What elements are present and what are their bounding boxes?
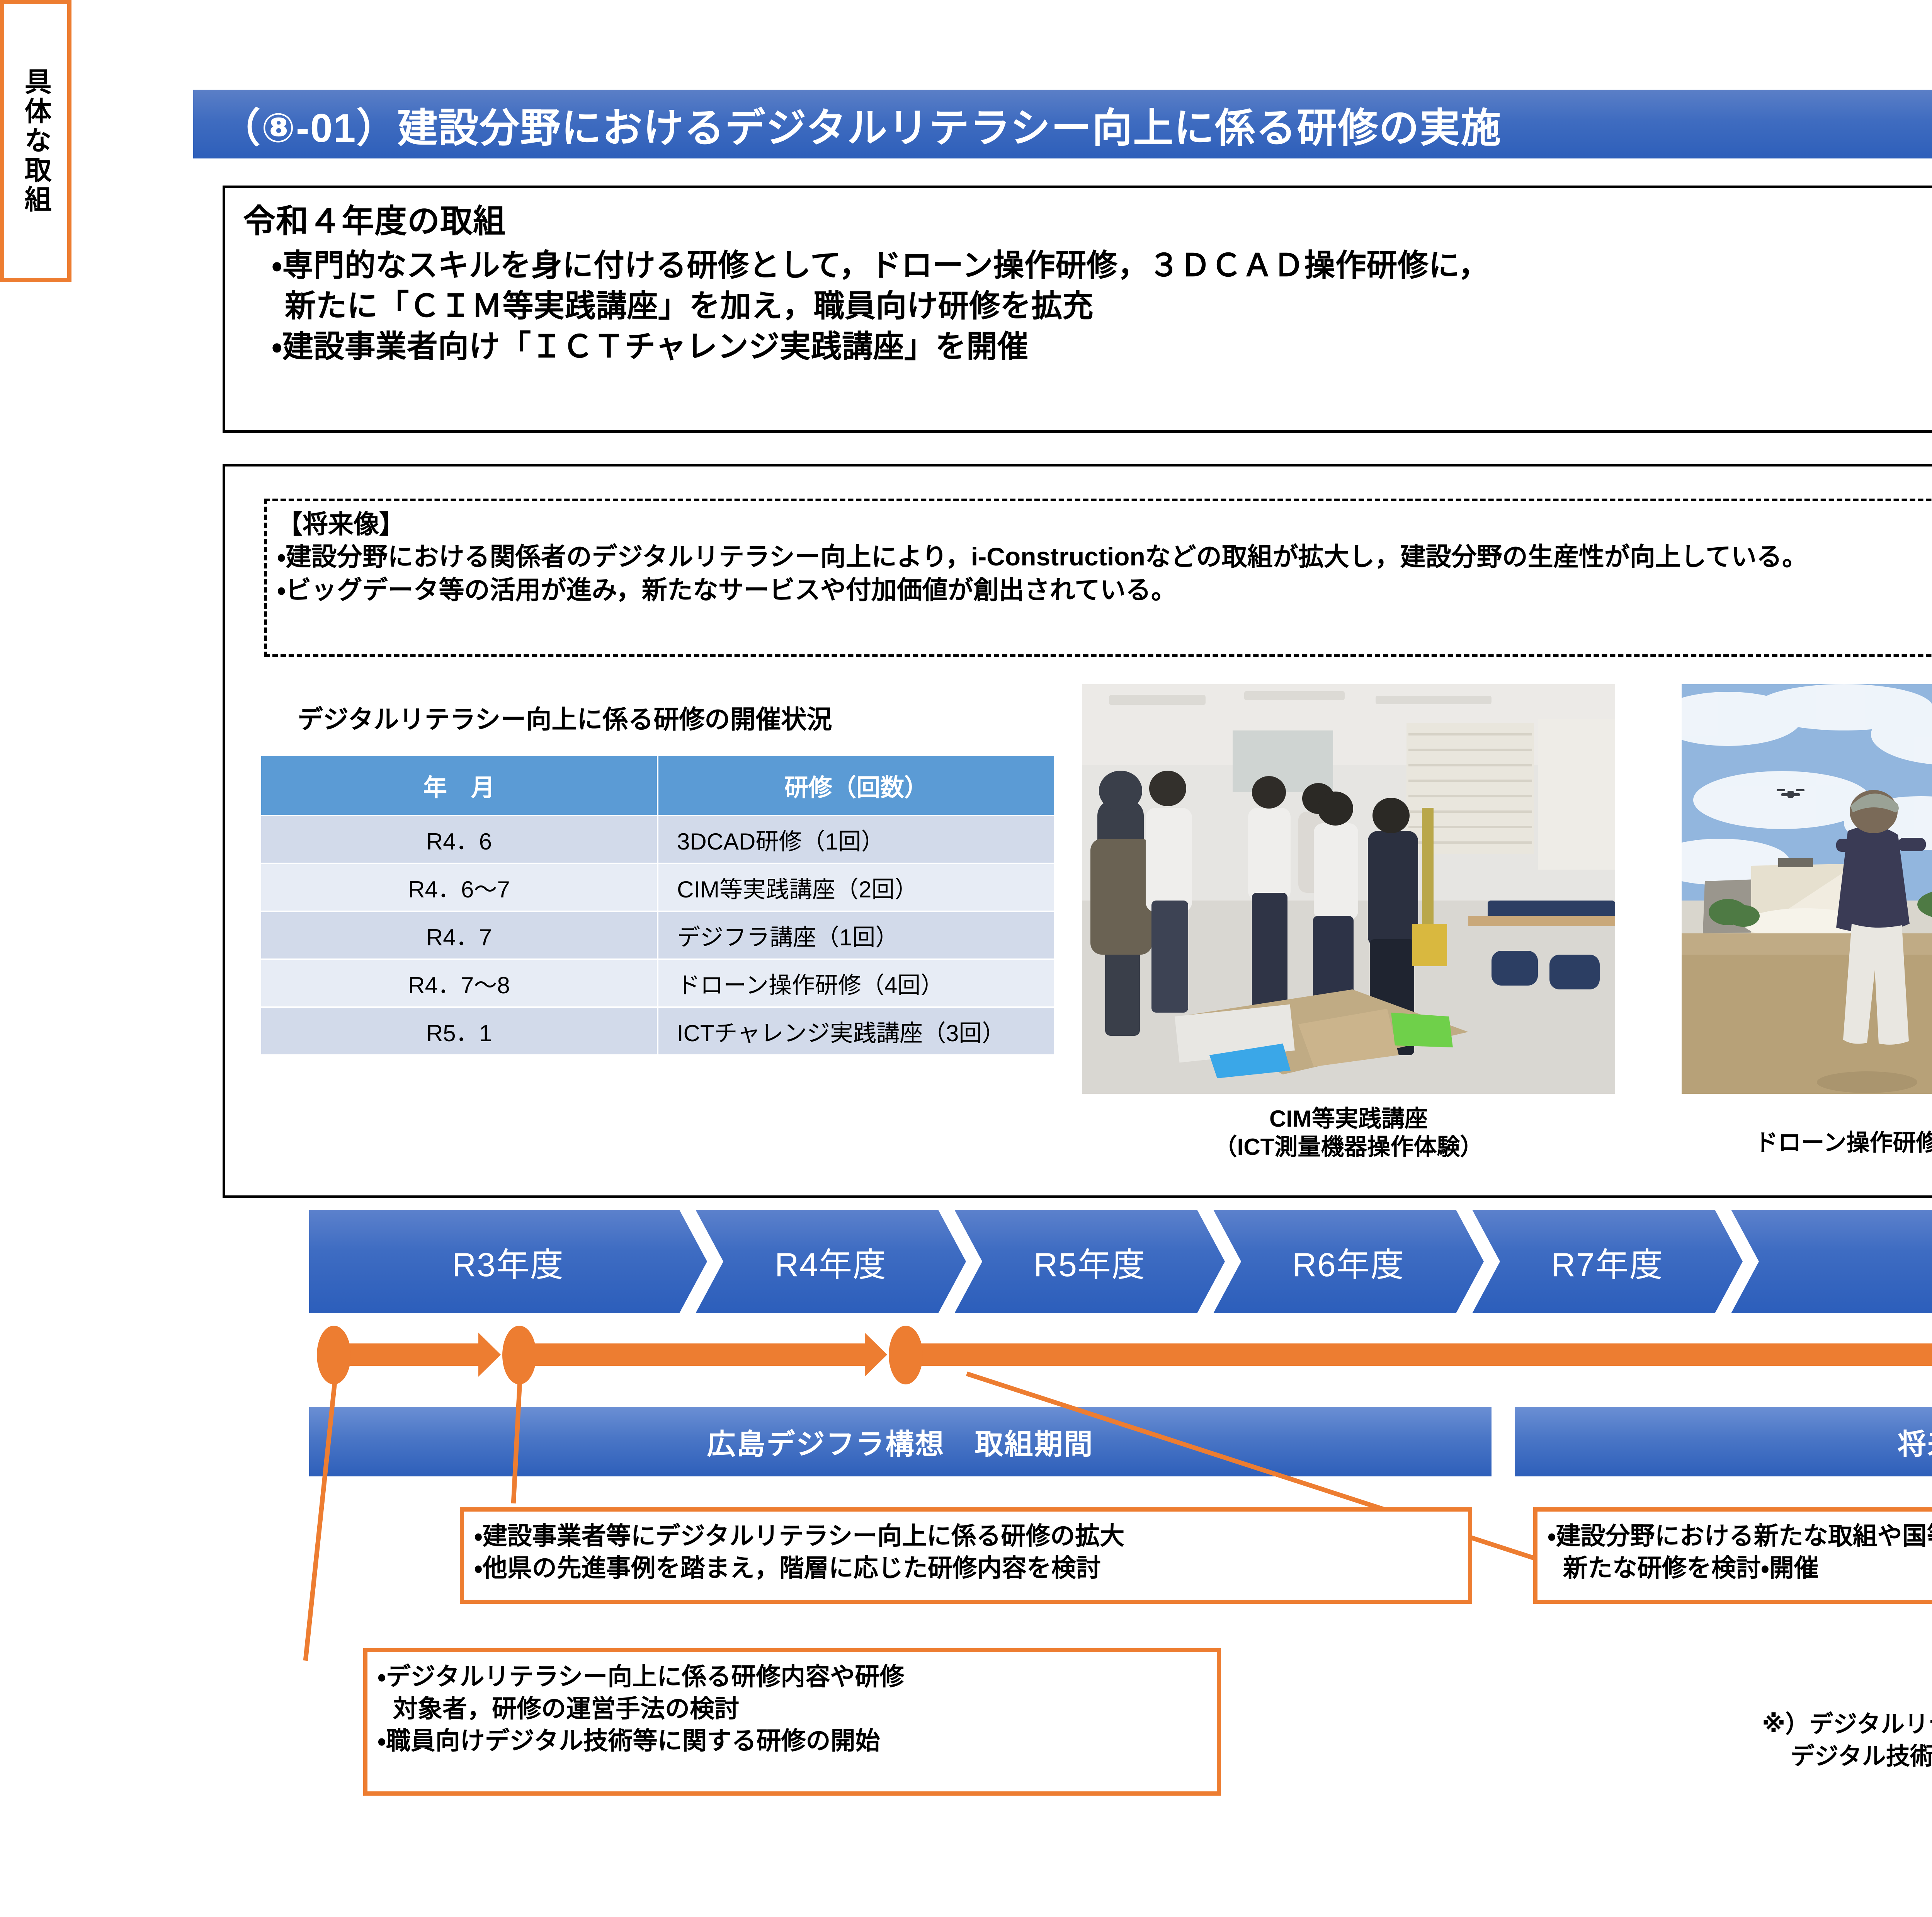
table-row: R4．7〜8 ドローン操作研修（4回）: [260, 959, 1055, 1007]
fiscal-year-timeline: R3年度 R4年度 R5年度 R6年度 R7年度 R8年度以降: [309, 1210, 1932, 1314]
timeline-year-r4: R4年度: [696, 1210, 966, 1313]
footnote-line-2: デジタル技術等についての知識や利用する能力: [1762, 1740, 1932, 1772]
cell-period: R4．7〜8: [260, 959, 658, 1007]
table-row: R4．6〜7 CIM等実践講座（2回）: [260, 863, 1055, 911]
cell-period: R4．6〜7: [260, 863, 658, 911]
page-title-bar: （⑧-01）建設分野におけるデジタルリテラシー向上に係る研修の実施: [193, 90, 1932, 158]
timeline-year-label: R5年度: [1034, 1238, 1146, 1286]
callout-mid-top-line-1: ・建設事業者等にデジタルリテラシー向上に係る研修の拡大: [474, 1520, 1458, 1552]
timeline-year-label: R7年度: [1551, 1238, 1663, 1286]
timeline-year-r8-onward: R8年度以降: [1731, 1210, 1932, 1313]
cell-period: R4．7: [260, 911, 658, 959]
callout-bottom-line-2: 対象者，研修の運営手法の検討: [378, 1693, 1207, 1725]
progress-arrow-segment-2: [526, 1343, 866, 1366]
timeline-year-label: R4年度: [775, 1238, 887, 1286]
timeline-year-r6: R6年度: [1213, 1210, 1484, 1313]
r4-bullet-2: ・建設事業者向け「ＩＣＴチャレンジ実践講座」を開催: [243, 327, 1932, 367]
cell-training: デジフラ講座（1回）: [658, 911, 1055, 959]
table-header-period: 年 月: [260, 755, 658, 815]
cim-classroom-photo-caption: CIM等実践講座 （ICT測量機器操作体験）: [1082, 1105, 1615, 1161]
callout-right: ・建設分野における新たな取組や国等の動向を踏まえて 新たな研修を検討・開催: [1533, 1507, 1932, 1604]
cim-classroom-photo: [1082, 684, 1615, 1094]
future-vision-line-1: ・建設分野における関係者のデジタルリテラシー向上により，i-Constructi…: [277, 540, 1932, 574]
callout-bottom-line-1: ・デジタルリテラシー向上に係る研修内容や研修: [378, 1661, 1207, 1693]
period-bar-future-plan: 将来計画: [1515, 1407, 1932, 1476]
table-header-training: 研修（回数）: [658, 755, 1055, 815]
r4-initiatives-box: 令和４年度の取組 ・専門的なスキルを身に付ける研修として，ドローン操作研修，３Ｄ…: [223, 186, 1932, 433]
timeline-year-r3: R3年度: [309, 1210, 707, 1313]
milestone-dot-r4: [502, 1326, 536, 1384]
progress-arrow-segment-3: [912, 1343, 1932, 1366]
r4-bullet-list: ・専門的なスキルを身に付ける研修として，ドローン操作研修，３ＤＣＡＤ操作研修に，…: [243, 245, 1932, 367]
milestone-dot-r5: [889, 1326, 923, 1384]
table-header-row: 年 月 研修（回数）: [260, 755, 1055, 815]
future-vision-line-2: ・ビッグデータ等の活用が進み，新たなサービスや付加価値が創出されている。: [277, 574, 1932, 607]
table-row: R4．6 3DCAD研修（1回）: [260, 815, 1055, 863]
cell-training: ICTチャレンジ実践講座（3回）: [658, 1007, 1055, 1055]
future-vision-heading: 【将来像】: [277, 508, 1932, 540]
concrete-initiatives-label: 具体な取組: [0, 0, 71, 282]
concrete-initiatives-text: 具体な取組: [20, 68, 51, 215]
callout-right-line-2: 新たな研修を検討・開催: [1548, 1552, 1932, 1584]
timeline-year-r7: R7年度: [1472, 1210, 1743, 1313]
callout-right-line-1: ・建設分野における新たな取組や国等の動向を踏まえて: [1548, 1520, 1932, 1552]
future-vision-box: 【将来像】 ・建設分野における関係者のデジタルリテラシー向上により，i-Cons…: [264, 499, 1932, 657]
progress-arrow-segment-1: [332, 1343, 479, 1366]
callout-bottom-line-3: ・職員向けデジタル技術等に関する研修の開始: [378, 1725, 1207, 1757]
r4-bullet-1: ・専門的なスキルを身に付ける研修として，ドローン操作研修，３ＤＣＡＤ操作研修に，…: [243, 245, 1932, 327]
milestone-dot-r3: [317, 1326, 351, 1384]
timeline-year-label: R3年度: [452, 1238, 564, 1286]
drone-training-photo: [1682, 684, 1932, 1094]
cell-training: 3DCAD研修（1回）: [658, 815, 1055, 863]
period-bar-label: 広島デジフラ構想 取組期間: [707, 1421, 1094, 1462]
cell-period: R4．6: [260, 815, 658, 863]
period-bar-hiroshima-digifra: 広島デジフラ構想 取組期間: [309, 1407, 1492, 1476]
training-table-caption: デジタルリテラシー向上に係る研修の開催状況: [298, 699, 1148, 736]
cell-training: CIM等実践講座（2回）: [658, 863, 1055, 911]
callout-mid-top: ・建設事業者等にデジタルリテラシー向上に係る研修の拡大 ・他県の先進事例を踏まえ…: [460, 1507, 1472, 1604]
page-title: （⑧-01）建設分野におけるデジタルリテラシー向上に係る研修の実施: [220, 95, 1502, 153]
footnote-block: ※）デジタルリテラシー デジタル技術等についての知識や利用する能力: [1762, 1708, 1932, 1772]
cell-period: R5．1: [260, 1007, 658, 1055]
period-bar-label: 将来計画: [1898, 1421, 1932, 1462]
training-sessions-table: 年 月 研修（回数） R4．6 3DCAD研修（1回） R4．6〜7 CIM等実…: [260, 754, 1056, 1056]
callout-bottom: ・デジタルリテラシー向上に係る研修内容や研修 対象者，研修の運営手法の検討 ・職…: [363, 1648, 1221, 1796]
cell-training: ドローン操作研修（4回）: [658, 959, 1055, 1007]
footnote-line-1: ※）デジタルリテラシー: [1762, 1708, 1932, 1740]
timeline-year-r5: R5年度: [954, 1210, 1225, 1313]
table-row: R5．1 ICTチャレンジ実践講座（3回）: [260, 1007, 1055, 1055]
callout-mid-top-line-2: ・他県の先進事例を踏まえ，階層に応じた研修内容を検討: [474, 1552, 1458, 1584]
timeline-year-label: R6年度: [1293, 1238, 1405, 1286]
table-row: R4．7 デジフラ講座（1回）: [260, 911, 1055, 959]
drone-training-photo-caption: ドローン操作研修: [1658, 1129, 1932, 1157]
milestone-arrow-row: [309, 1334, 1932, 1377]
r4-heading: 令和４年度の取組: [243, 201, 1932, 241]
